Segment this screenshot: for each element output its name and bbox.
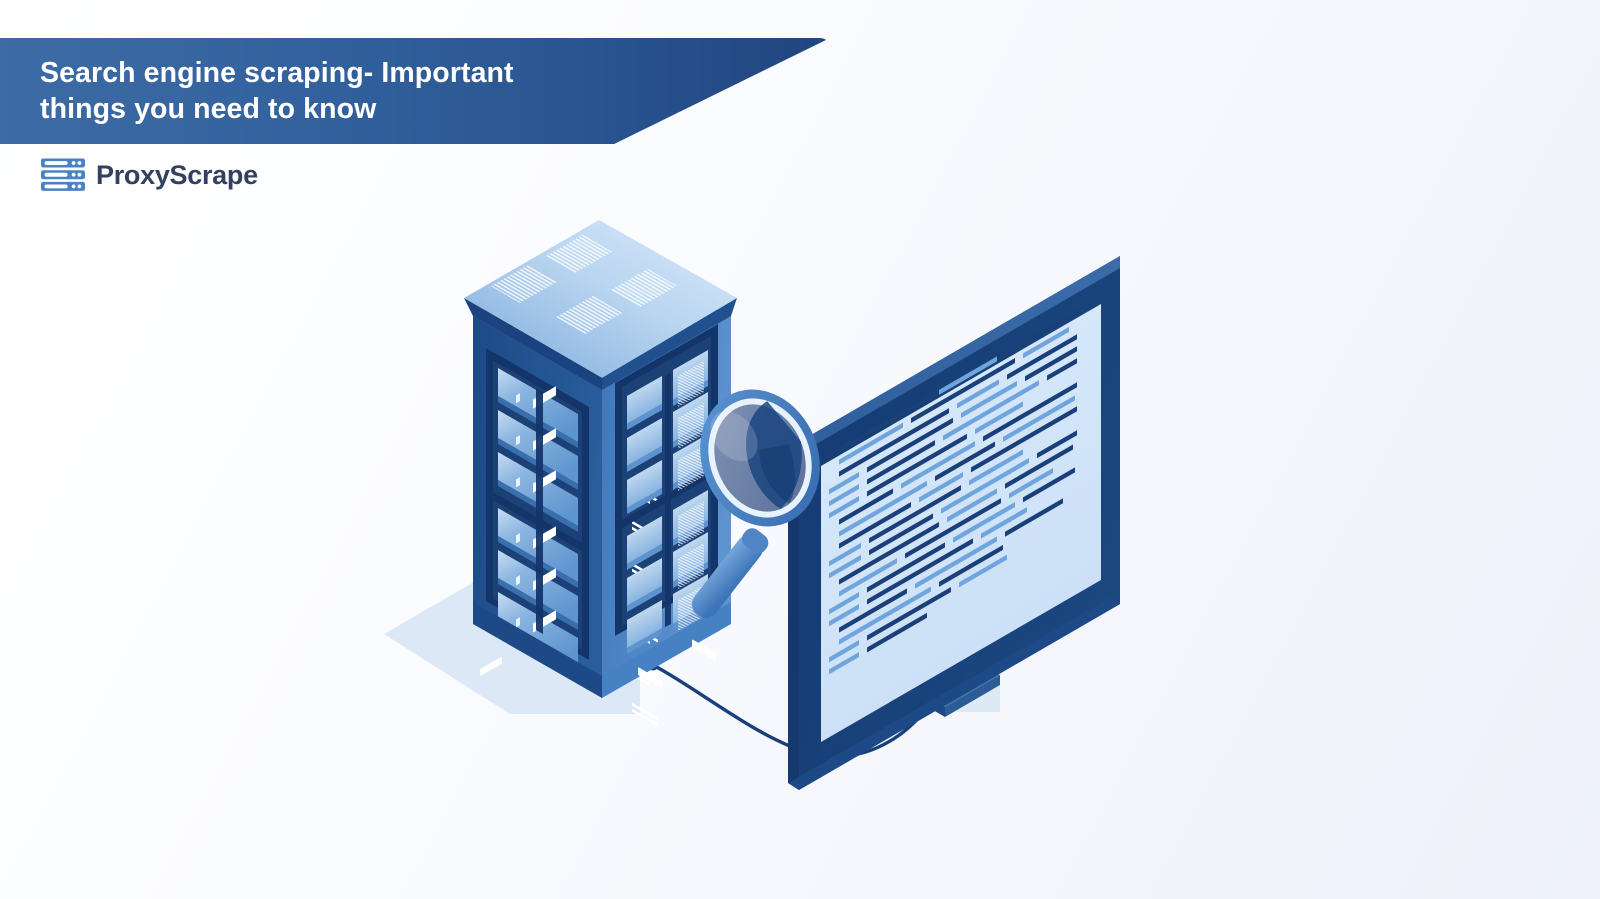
page-title: Search engine scraping- Important things…	[0, 55, 514, 128]
brand-logo[interactable]: ProxyScrape	[40, 157, 258, 193]
server-rack-icon	[40, 157, 86, 193]
page-root: Search engine scraping- Important things…	[0, 0, 1600, 899]
computer-monitor	[788, 256, 1120, 790]
brand-name: ProxyScrape	[96, 162, 258, 189]
illustration	[340, 220, 1200, 790]
header-banner: Search engine scraping- Important things…	[0, 38, 830, 144]
